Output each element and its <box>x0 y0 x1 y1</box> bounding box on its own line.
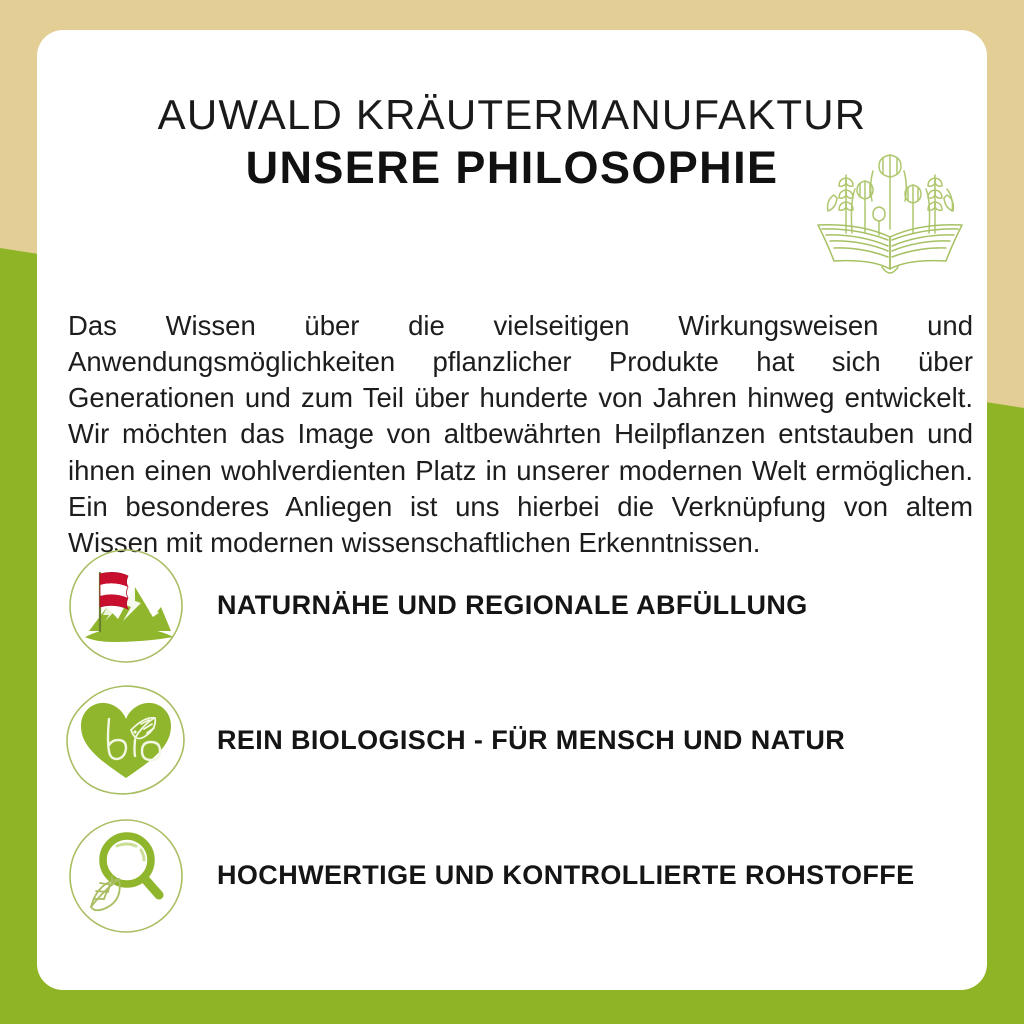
content-card: AUWALD KRÄUTERMANUFAKTUR UNSERE PHILOSOP… <box>37 30 987 990</box>
feature-item: HOCHWERTIGE UND KONTROLLIERTE ROHSTOFFE <box>37 808 987 943</box>
feature-item: REIN BIOLOGISCH - FÜR MENSCH UND NATUR <box>37 673 987 808</box>
open-book-with-herbs-icon <box>789 145 987 280</box>
bio-heart-leaf-icon <box>65 680 187 802</box>
feature-label: NATURNÄHE UND REGIONALE ABFÜLLUNG <box>217 590 808 621</box>
feature-item: NATURNÄHE UND REGIONALE ABFÜLLUNG <box>37 538 987 673</box>
philosophy-paragraph: Das Wissen über die vielseitigen Wirkung… <box>68 308 973 562</box>
brand-title: AUWALD KRÄUTERMANUFAKTUR <box>37 92 987 137</box>
poster-canvas: AUWALD KRÄUTERMANUFAKTUR UNSERE PHILOSOP… <box>0 0 1024 1024</box>
magnifying-glass-with-leaf-icon <box>65 815 187 937</box>
header: AUWALD KRÄUTERMANUFAKTUR UNSERE PHILOSOP… <box>37 30 987 245</box>
mountain-with-austrian-flag-icon <box>65 545 187 667</box>
feature-label: HOCHWERTIGE UND KONTROLLIERTE ROHSTOFFE <box>217 860 915 891</box>
feature-list: NATURNÄHE UND REGIONALE ABFÜLLUNG <box>37 538 987 943</box>
feature-label: REIN BIOLOGISCH - FÜR MENSCH UND NATUR <box>217 725 845 756</box>
